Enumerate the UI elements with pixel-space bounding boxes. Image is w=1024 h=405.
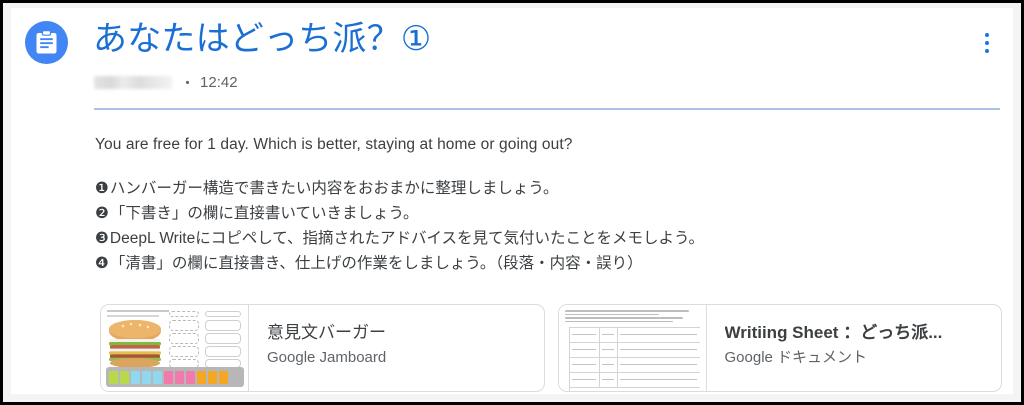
header-divider <box>94 108 1000 110</box>
step-text: 「下書き」の欄に直接書いていきましょう。 <box>110 205 419 222</box>
step-number: ❷ <box>95 205 109 222</box>
dot-3 <box>985 49 989 53</box>
sticky-note-tray <box>106 367 244 387</box>
attachment-title: 意見文バーガー <box>267 321 530 344</box>
attachment-subtitle: Google ドキュメント <box>725 347 988 369</box>
attachment-title: Writiing Sheet ：どっち派... <box>725 321 988 344</box>
instruction-list: ❶ハンバーガー構造で書きたい内容をおおまかに整理しましょう。 ❷「下書き」の欄に… <box>95 176 993 276</box>
page-title: あなたはどっち派？① <box>93 16 431 62</box>
screenshot-frame: あなたはどっち派？① ・ 12:42 You are free for 1 da… <box>0 0 1024 405</box>
attachment-subtitle: Google Jamboard <box>267 347 530 369</box>
step-number: ❶ <box>95 180 109 197</box>
step-number: ❹ <box>95 255 109 272</box>
list-item: ❷「下書き」の欄に直接書いていきましょう。 <box>95 201 993 226</box>
more-options-icon[interactable] <box>974 28 1000 58</box>
meta-separator: ・ <box>180 72 195 93</box>
google-docs-worksheet-thumbnail <box>559 305 707 391</box>
post-header: あなたはどっち派？① ・ 12:42 <box>11 8 1013 108</box>
list-item: ❶ハンバーガー構造で書きたい内容をおおまかに整理しましょう。 <box>95 176 993 201</box>
step-text: DeepL Writeにコピペして、指摘されたアドバイスを見て気付いたことをメモ… <box>110 230 704 247</box>
attachment-list: 意見文バーガー Google Jamboard <box>100 304 1002 392</box>
dot-2 <box>985 41 989 45</box>
step-text: ハンバーガー構造で書きたい内容をおおまかに整理しましょう。 <box>110 180 559 197</box>
jamboard-burger-thumbnail <box>101 305 249 391</box>
assignment-clipboard-icon <box>25 21 68 64</box>
post-body: You are free for 1 day. Which is better,… <box>95 134 993 276</box>
list-item: ❸DeepL Writeにコピペして、指摘されたアドバイスを見て気付いたことをメ… <box>95 226 993 251</box>
attachment-card-doc[interactable]: Writiing Sheet ：どっち派... Google ドキュメント <box>558 304 1003 392</box>
post-meta: ・ 12:42 <box>94 71 238 93</box>
intro-paragraph: You are free for 1 day. Which is better,… <box>95 134 993 156</box>
classroom-post-card: あなたはどっち派？① ・ 12:42 You are free for 1 da… <box>11 8 1013 394</box>
attachment-card-jamboard[interactable]: 意見文バーガー Google Jamboard <box>100 304 545 392</box>
dot-1 <box>985 33 989 37</box>
post-timestamp: 12:42 <box>200 74 238 91</box>
step-number: ❸ <box>95 230 109 247</box>
list-item: ❹「清書」の欄に直接書き、仕上げの作業をしましょう。（段落・内容・誤り） <box>95 251 993 276</box>
author-name-redacted <box>94 76 172 89</box>
step-text: 「清書」の欄に直接書き、仕上げの作業をしましょう。（段落・内容・誤り） <box>110 255 643 272</box>
